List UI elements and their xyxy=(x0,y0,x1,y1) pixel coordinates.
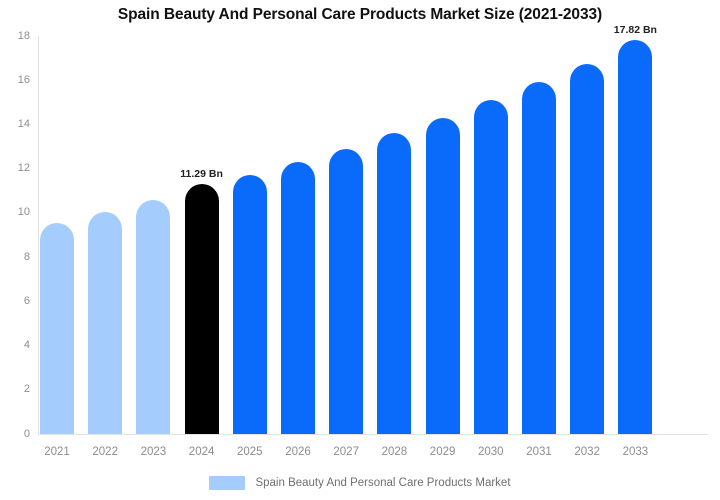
bar-2029[interactable] xyxy=(426,118,460,434)
y-axis-tick-label: 0 xyxy=(0,429,30,440)
y-axis-tick-label: 4 xyxy=(0,340,30,351)
bar-2027[interactable] xyxy=(329,149,363,434)
x-axis-tick-label-2022: 2022 xyxy=(81,446,129,458)
bar-2026[interactable] xyxy=(281,162,315,434)
y-axis-line xyxy=(38,36,39,434)
bar-2030[interactable] xyxy=(474,100,508,434)
bar-2022[interactable] xyxy=(88,212,122,434)
x-axis-tick-label-2021: 2021 xyxy=(33,446,81,458)
bar-2028[interactable] xyxy=(377,133,411,434)
bar-2032[interactable] xyxy=(570,64,604,434)
x-axis-tick-label-2025: 2025 xyxy=(226,446,274,458)
y-axis-tick-label: 2 xyxy=(0,384,30,395)
x-axis-tick-label-2032: 2032 xyxy=(563,446,611,458)
chart-legend: Spain Beauty And Personal Care Products … xyxy=(0,476,720,490)
x-axis-tick-label-2030: 2030 xyxy=(467,446,515,458)
x-axis-tick-label-2029: 2029 xyxy=(419,446,467,458)
bar-2021[interactable] xyxy=(40,223,74,434)
chart-title: Spain Beauty And Personal Care Products … xyxy=(0,6,720,24)
y-axis-tick-label: 14 xyxy=(0,119,30,130)
plot-area: 024681012141618 202120222023202420252026… xyxy=(0,0,720,500)
bar-2024[interactable] xyxy=(185,184,219,434)
y-axis-tick-label: 8 xyxy=(0,252,30,263)
x-axis-tick-label-2026: 2026 xyxy=(274,446,322,458)
bar-2023[interactable] xyxy=(136,200,170,434)
x-axis-tick-label-2027: 2027 xyxy=(322,446,370,458)
y-axis-tick-label: 10 xyxy=(0,207,30,218)
bar-value-label-2024: 11.29 Bn xyxy=(157,168,247,180)
legend-label: Spain Beauty And Personal Care Products … xyxy=(255,476,510,490)
y-axis-tick-label: 16 xyxy=(0,75,30,86)
bar-value-label-2033: 17.82 Bn xyxy=(590,24,680,36)
x-axis-tick-label-2024: 2024 xyxy=(178,446,226,458)
legend-item[interactable]: Spain Beauty And Personal Care Products … xyxy=(209,476,510,490)
bar-2033[interactable] xyxy=(618,40,652,434)
y-axis-tick-label: 18 xyxy=(0,31,30,42)
bar-2031[interactable] xyxy=(522,82,556,434)
chart-container: Spain Beauty And Personal Care Products … xyxy=(0,0,720,500)
legend-swatch-icon xyxy=(209,476,245,490)
y-axis-tick-label: 6 xyxy=(0,296,30,307)
x-axis-tick-label-2023: 2023 xyxy=(129,446,177,458)
bar-2025[interactable] xyxy=(233,175,267,434)
x-axis-tick-label-2031: 2031 xyxy=(515,446,563,458)
y-axis-tick-label: 12 xyxy=(0,163,30,174)
x-axis-tick-label-2033: 2033 xyxy=(611,446,659,458)
x-axis-tick-label-2028: 2028 xyxy=(370,446,418,458)
x-axis-line xyxy=(38,434,708,435)
